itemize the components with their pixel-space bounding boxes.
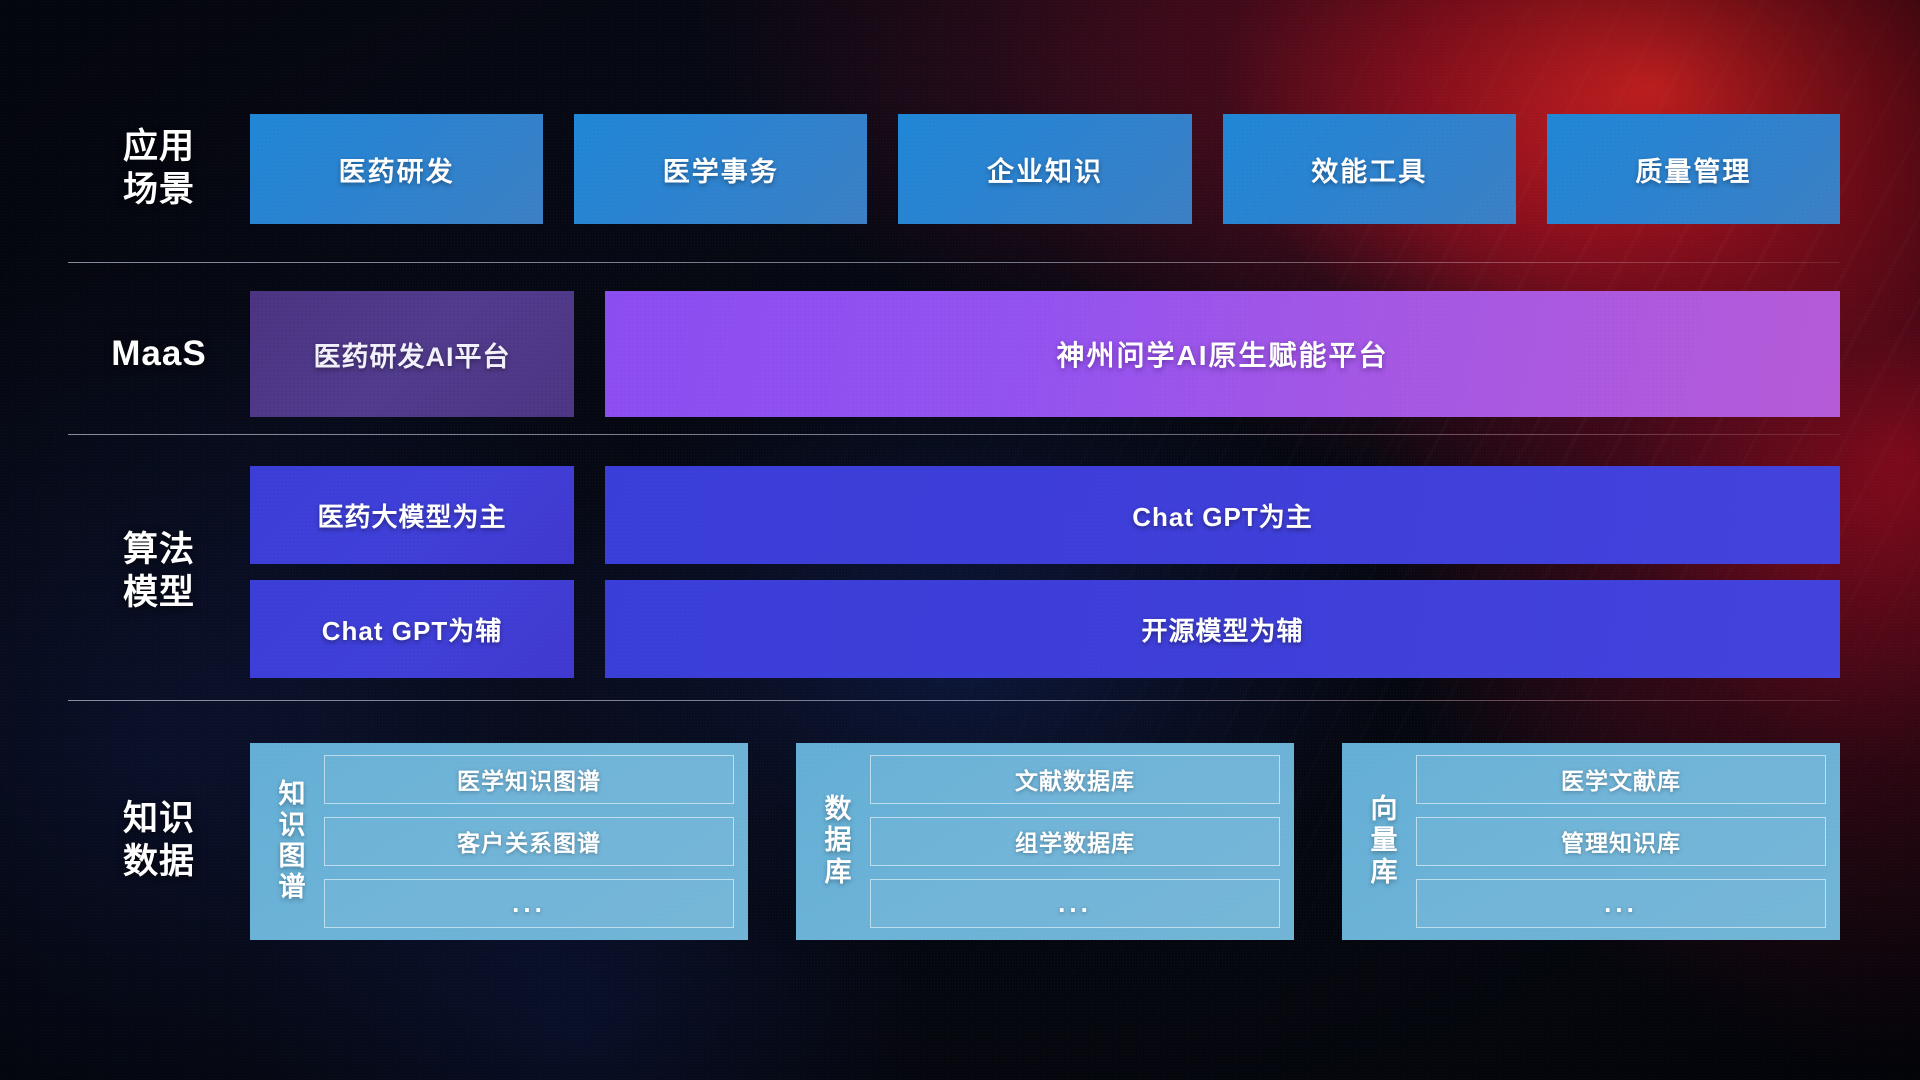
application-card-label: 质量管理 xyxy=(1635,150,1751,189)
algorithm-card-opensource-secondary[interactable]: 开源模型为辅 xyxy=(605,580,1840,678)
row-label-knowledge-data: 知识 数据 xyxy=(68,798,250,883)
application-card-medicine-rd[interactable]: 医药研发 xyxy=(250,114,543,224)
algorithm-card-chatgpt-secondary[interactable]: Chat GPT为辅 xyxy=(250,580,574,678)
algorithm-line-primary: 医药大模型为主 Chat GPT为主 xyxy=(250,466,1840,564)
application-card-efficiency-tools[interactable]: 效能工具 xyxy=(1223,114,1516,224)
algorithm-line-secondary: Chat GPT为辅 开源模型为辅 xyxy=(250,580,1840,678)
architecture-diagram: 应用 场景 医药研发 医学事务 企业知识 效能工具 质量管理 xyxy=(0,0,1920,1080)
knowledge-card-database[interactable]: 数 据 库 文献数据库 组学数据库 ... xyxy=(796,743,1294,940)
algorithm-card-label: Chat GPT为辅 xyxy=(322,611,502,648)
algorithm-card-medicine-llm-primary[interactable]: 医药大模型为主 xyxy=(250,466,574,564)
slide-canvas: 应用 场景 医药研发 医学事务 企业知识 效能工具 质量管理 xyxy=(0,0,1920,1080)
application-card-list: 医药研发 医学事务 企业知识 效能工具 质量管理 xyxy=(250,114,1840,224)
knowledge-item-more[interactable]: ... xyxy=(870,879,1280,928)
algorithm-card-list: 医药大模型为主 Chat GPT为主 Chat GPT为辅 开源模型为辅 xyxy=(250,466,1840,678)
divider-maas-algorithm xyxy=(68,434,1840,435)
application-card-label: 医药研发 xyxy=(339,150,455,189)
algorithm-card-label: 医药大模型为主 xyxy=(317,497,506,534)
algorithm-card-label: 开源模型为辅 xyxy=(1141,611,1303,648)
row-label-algorithm-models: 算法 模型 xyxy=(68,529,250,614)
knowledge-item[interactable]: 组学数据库 xyxy=(870,817,1280,866)
knowledge-item-list: 医学文献库 管理知识库 ... xyxy=(1416,755,1826,928)
algorithm-card-chatgpt-primary[interactable]: Chat GPT为主 xyxy=(605,466,1840,564)
knowledge-card-vertical-label: 向 量 库 xyxy=(1352,755,1416,928)
row-label-application-scenarios: 应用 场景 xyxy=(68,126,250,211)
knowledge-card-vector-store[interactable]: 向 量 库 医学文献库 管理知识库 ... xyxy=(1342,743,1840,940)
application-card-enterprise-knowledge[interactable]: 企业知识 xyxy=(898,114,1191,224)
application-card-label: 企业知识 xyxy=(987,150,1103,189)
knowledge-item[interactable]: 医学知识图谱 xyxy=(324,755,734,804)
row-label-maas: MaaS xyxy=(68,333,250,376)
row-algorithm-models: 算法 模型 医药大模型为主 Chat GPT为主 Chat GPT为辅 开源模型… xyxy=(68,458,1840,686)
knowledge-item-list: 医学知识图谱 客户关系图谱 ... xyxy=(324,755,734,928)
knowledge-item-more[interactable]: ... xyxy=(324,879,734,928)
divider-algorithm-knowledge xyxy=(68,700,1840,701)
maas-card-list: 医药研发AI平台 神州问学AI原生赋能平台 xyxy=(250,291,1840,417)
maas-card-medicine-ai-platform[interactable]: 医药研发AI平台 xyxy=(250,291,574,417)
knowledge-item[interactable]: 文献数据库 xyxy=(870,755,1280,804)
application-card-quality-management[interactable]: 质量管理 xyxy=(1547,114,1840,224)
knowledge-card-knowledge-graph[interactable]: 知 识 图 谱 医学知识图谱 客户关系图谱 ... xyxy=(250,743,748,940)
application-card-medical-affairs[interactable]: 医学事务 xyxy=(574,114,867,224)
row-application-scenarios: 应用 场景 医药研发 医学事务 企业知识 效能工具 质量管理 xyxy=(68,104,1840,234)
application-card-label: 效能工具 xyxy=(1311,150,1427,189)
algorithm-card-label: Chat GPT为主 xyxy=(1132,497,1312,534)
knowledge-item[interactable]: 客户关系图谱 xyxy=(324,817,734,866)
maas-card-label: 神州问学AI原生赋能平台 xyxy=(1056,334,1388,374)
row-maas: MaaS 医药研发AI平台 神州问学AI原生赋能平台 xyxy=(68,288,1840,420)
knowledge-card-vertical-label: 数 据 库 xyxy=(806,755,870,928)
knowledge-item[interactable]: 医学文献库 xyxy=(1416,755,1826,804)
knowledge-item-more[interactable]: ... xyxy=(1416,879,1826,928)
knowledge-card-list: 知 识 图 谱 医学知识图谱 客户关系图谱 ... 数 据 库 文献数据库 组学… xyxy=(250,743,1840,940)
knowledge-item[interactable]: 管理知识库 xyxy=(1416,817,1826,866)
knowledge-item-list: 文献数据库 组学数据库 ... xyxy=(870,755,1280,928)
maas-card-label: 医药研发AI平台 xyxy=(314,335,511,374)
divider-applications-maas xyxy=(68,262,1840,263)
maas-card-shenzhou-wenxue-platform[interactable]: 神州问学AI原生赋能平台 xyxy=(605,291,1840,417)
row-knowledge-data: 知识 数据 知 识 图 谱 医学知识图谱 客户关系图谱 ... 数 据 库 文献… xyxy=(68,716,1840,966)
knowledge-card-vertical-label: 知 识 图 谱 xyxy=(260,755,324,928)
application-card-label: 医学事务 xyxy=(663,150,779,189)
